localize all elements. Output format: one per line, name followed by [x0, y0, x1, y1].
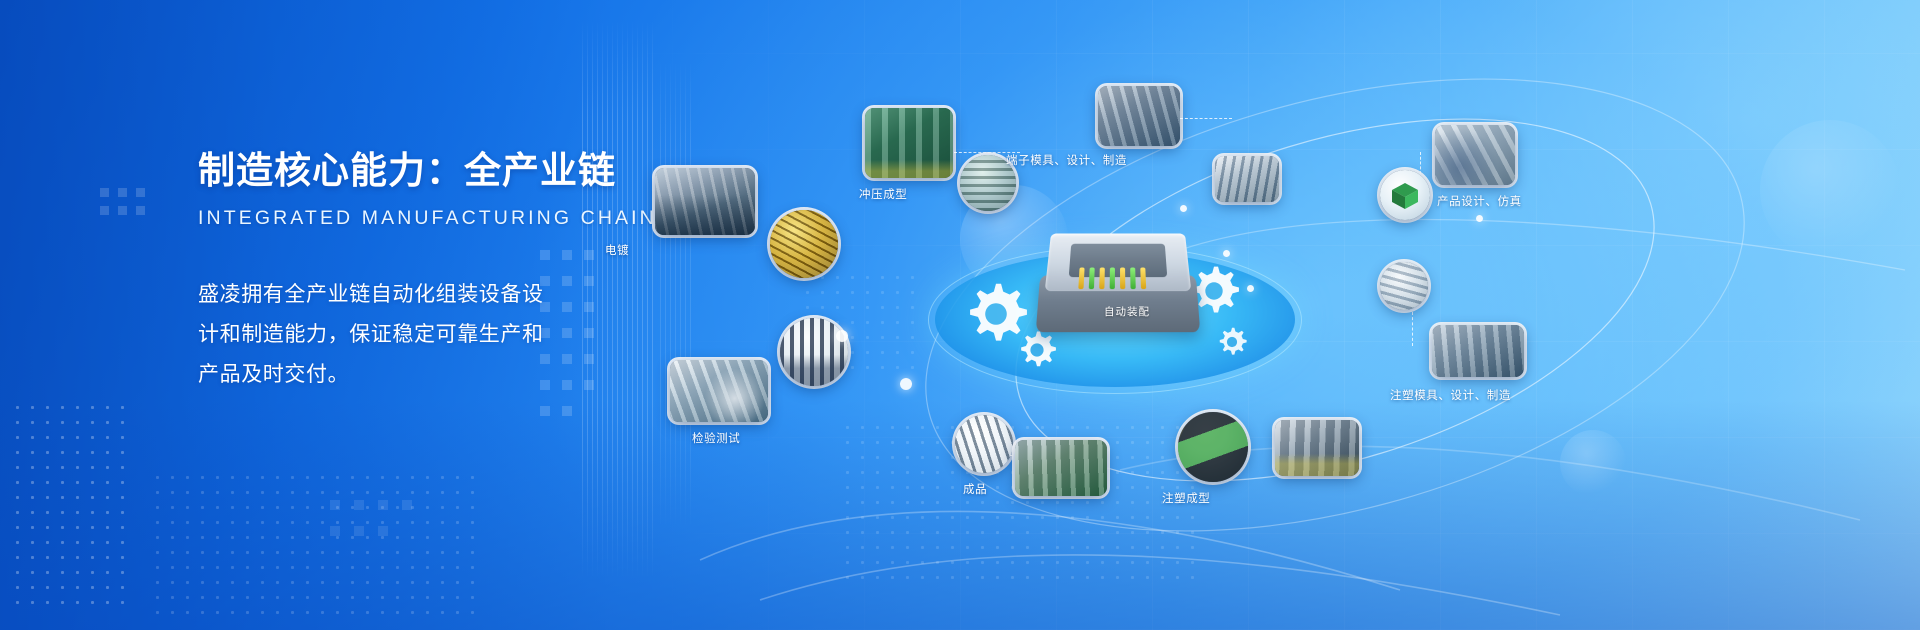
gear-icon — [1215, 325, 1249, 359]
stamping-machine-photo[interactable] — [865, 108, 953, 178]
product-design-label: 产品设计、仿真 — [1437, 193, 1522, 209]
injection-mold-label: 注塑模具、设计、制造 — [1390, 387, 1511, 403]
square-matrix-c — [330, 500, 490, 600]
injection-molding-photo[interactable] — [1178, 412, 1248, 482]
subtitle-english: INTEGRATED MANUFACTURING CHAIN — [198, 207, 618, 230]
engineer-cad-photo[interactable] — [1435, 125, 1515, 185]
orbit-dot — [836, 330, 848, 342]
injection-part-photo[interactable] — [1380, 262, 1428, 310]
machine-cavity — [1069, 244, 1168, 277]
manufacturing-chain-diagram: 自动装配 电镀 冲压成型 — [760, 40, 1920, 600]
test-fixture-photo[interactable] — [780, 318, 848, 386]
cube-glyph — [1380, 170, 1430, 220]
orbit-dot — [1247, 285, 1254, 292]
body-line: 产品及时交付。 — [198, 355, 558, 395]
3d-model-icon[interactable] — [1380, 170, 1430, 220]
electroplating-label: 电镀 — [605, 242, 629, 258]
square-matrix-a — [100, 188, 170, 258]
injection-form-label: 注塑成型 — [1162, 490, 1210, 506]
molding-line-photo[interactable] — [1275, 420, 1359, 476]
banner-stage: 制造核心能力：全产业链 INTEGRATED MANUFACTURING CHA… — [0, 0, 1920, 630]
mold-block-photo[interactable] — [1215, 156, 1279, 202]
orbit-dot — [1476, 215, 1483, 222]
injection-workshop-photo[interactable] — [1432, 325, 1524, 377]
orbit-dot — [1223, 250, 1230, 257]
gold-terminal-reel-photo[interactable] — [770, 210, 838, 278]
auto-assembly-machine: 自动装配 — [1032, 212, 1204, 336]
left-copy-block: 制造核心能力：全产业链 INTEGRATED MANUFACTURING CHA… — [198, 140, 618, 395]
page-title: 制造核心能力：全产业链 — [198, 140, 618, 194]
body-line: 盛凌拥有全产业链自动化组装设备设 — [198, 275, 558, 315]
assembly-line-photo[interactable] — [1015, 440, 1107, 496]
mold-workshop-photo[interactable] — [1098, 86, 1180, 146]
connector-product-photo[interactable] — [955, 415, 1013, 473]
electroplating-photo[interactable] — [655, 168, 755, 235]
pinstripe-column-b — [660, 60, 694, 530]
body-paragraph: 盛凌拥有全产业链自动化组装设备设 计和制造能力，保证稳定可靠生产和 产品及时交付… — [198, 275, 558, 395]
finished-product-label: 成品 — [963, 481, 987, 497]
dash-connector — [1180, 118, 1232, 119]
inspection-lab-photo[interactable] — [670, 360, 768, 422]
dash-connector — [1412, 312, 1413, 346]
stamping-label: 冲压成型 — [859, 186, 907, 202]
orbit-dot — [1180, 205, 1187, 212]
center-label: 自动装配 — [1082, 304, 1172, 319]
inspection-label: 检验测试 — [692, 430, 740, 446]
terminal-mold-label: 端子模具、设计、制造 — [1006, 152, 1127, 168]
orbit-dot — [900, 378, 912, 390]
dot-matrix-left — [10, 400, 130, 610]
body-line: 计和制造能力，保证稳定可靠生产和 — [198, 315, 558, 355]
